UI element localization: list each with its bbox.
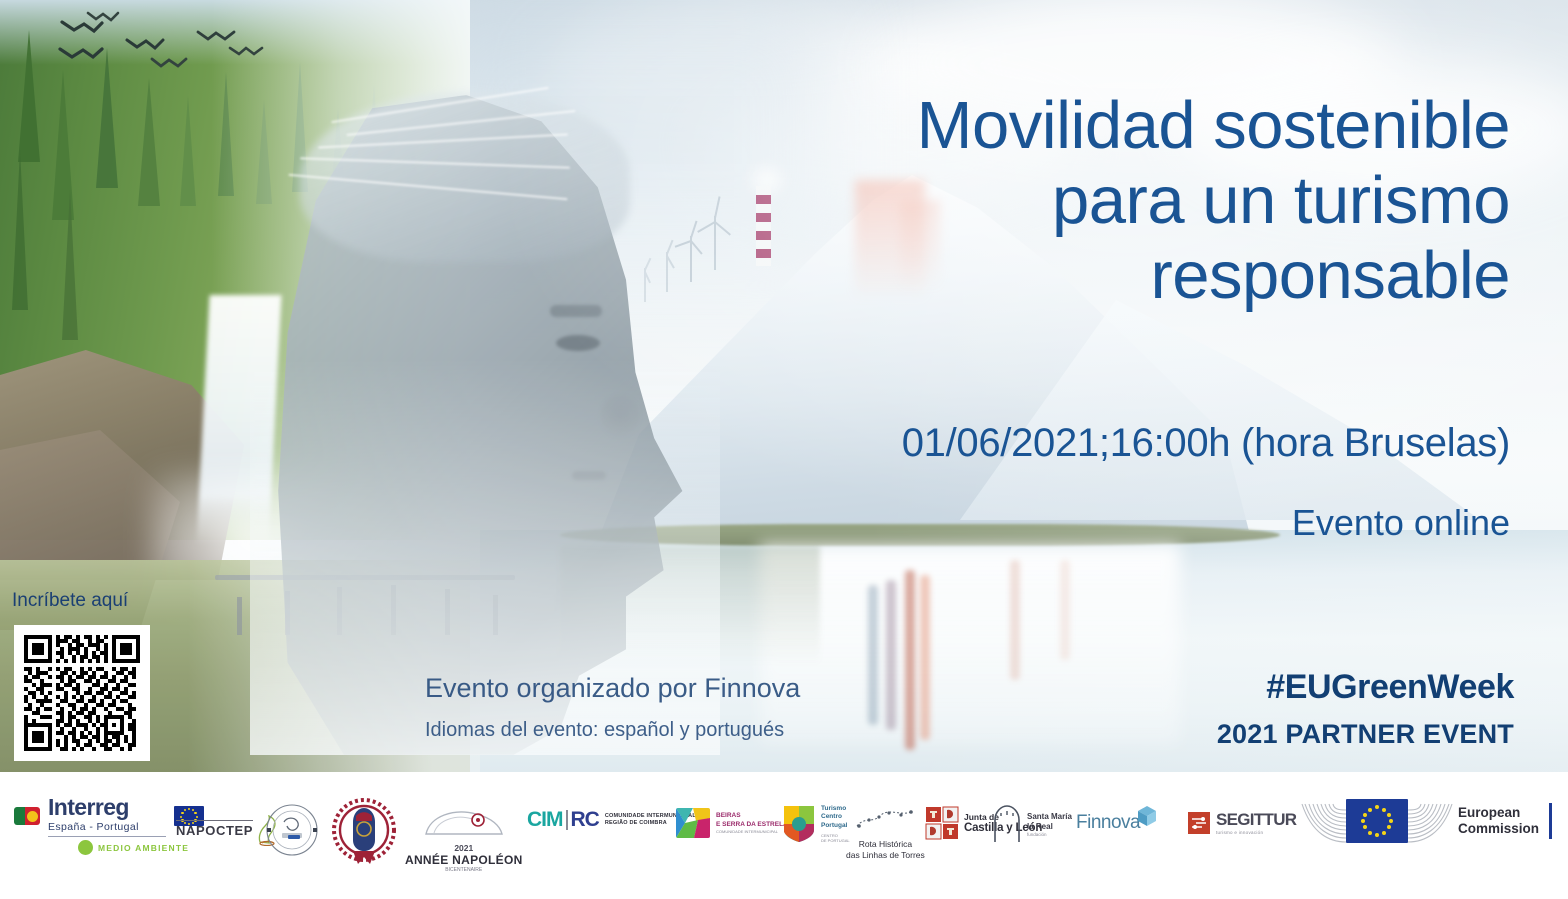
event-languages: Idiomas del evento: español y portugués bbox=[425, 719, 784, 742]
logo-turismo-centro-portugal: Turismo Centro Portugal CENTRO DE PORTUG… bbox=[782, 804, 850, 844]
logo-beiras-word: BEIRAS E SERRA DA ESTRELA bbox=[716, 812, 788, 828]
qr-label: Incríbete aquí bbox=[12, 590, 128, 612]
logo-european-commission: European Commission bbox=[1300, 798, 1552, 844]
bird-icon bbox=[58, 44, 104, 62]
rota-linhas-icon bbox=[853, 808, 917, 834]
logo-annee-word: ANNÉE NAPOLÉON bbox=[405, 853, 523, 867]
ec-fan-left-icon bbox=[1300, 798, 1348, 844]
logo-smr-sub: fundación bbox=[1027, 832, 1072, 837]
logo-finnova-word: Finnova bbox=[1076, 812, 1140, 834]
logo-beiras-serra-estrela: BEIRAS E SERRA DA ESTRELA COMUNIDADE INT… bbox=[676, 808, 788, 838]
logo-rota-word: Rota Histórica das Linhas de Torres bbox=[846, 839, 925, 861]
tree-shape bbox=[18, 30, 40, 162]
logo-interreg-sub: España - Portugal bbox=[48, 821, 166, 833]
event-organizer: Evento organizado por Finnova bbox=[425, 673, 800, 704]
certification-seal-icon bbox=[264, 802, 320, 858]
logo-beiras-sub: COMUNIDADE INTERMUNICIPAL bbox=[716, 829, 788, 834]
tree-shape bbox=[218, 72, 234, 196]
tree-shape bbox=[62, 190, 78, 340]
ec-divider bbox=[1549, 803, 1552, 839]
logo-segittur-sub: turismo e innovación bbox=[1216, 830, 1296, 835]
finnova-cube-icon bbox=[1135, 804, 1159, 828]
event-datetime: 01/06/2021;16:00h (hora Bruselas) bbox=[902, 421, 1510, 466]
logo-interreg-word: Interreg bbox=[48, 794, 166, 821]
napoleon-seal-icon bbox=[330, 794, 398, 866]
tree-shape bbox=[52, 70, 74, 220]
tree-shape bbox=[12, 150, 28, 310]
title-line-1: Movilidad sostenible bbox=[610, 88, 1510, 163]
ec-fan-right-icon bbox=[1406, 798, 1454, 844]
partner-logo-bar: Interreg España - Portugal MEDIO AMBIENT… bbox=[0, 772, 1568, 899]
logo-segittur-word: SEGITTUR bbox=[1216, 810, 1296, 830]
water-reflection-streak bbox=[905, 570, 915, 750]
water-reflection-white bbox=[760, 545, 1180, 745]
logo-rota-historica: Rota Histórica das Linhas de Torres bbox=[846, 808, 925, 861]
water-reflection-streak bbox=[886, 580, 896, 730]
logo-annee-sub: BICENTENAIRE bbox=[405, 867, 523, 873]
page-title: Movilidad sostenible para un turismo res… bbox=[610, 88, 1510, 313]
event-modality: Evento online bbox=[1292, 502, 1510, 544]
partner-event-label: 2021 PARTNER EVENT bbox=[1217, 719, 1514, 750]
castilla-leon-crest-icon bbox=[925, 806, 959, 840]
eu-flag-icon bbox=[1346, 799, 1408, 843]
water-reflection-streak bbox=[920, 575, 930, 740]
bird-icon bbox=[125, 36, 165, 53]
logo-finnova: Finnova bbox=[1076, 812, 1159, 834]
qr-code-registration[interactable] bbox=[14, 625, 150, 761]
logo-annee-napoleon: 2021 ANNÉE NAPOLÉON BICENTENAIRE bbox=[405, 808, 523, 873]
bird-icon bbox=[150, 55, 188, 71]
bird-icon bbox=[228, 44, 264, 59]
logo-napoctep-word: NAPOCTEP bbox=[176, 820, 253, 838]
tree-shape bbox=[96, 48, 118, 188]
napoleon-hat-icon bbox=[420, 808, 508, 838]
tree-shape bbox=[180, 96, 196, 206]
campaign-hashtag: #EUGreenWeek bbox=[1266, 668, 1514, 707]
bird-icon bbox=[86, 10, 120, 24]
logo-annee-year: 2021 bbox=[405, 843, 523, 853]
title-line-2: para un turismo bbox=[610, 163, 1510, 238]
portugal-flag-icon bbox=[14, 807, 40, 825]
logo-santa-maria-la-real: Santa María la Real fundación bbox=[992, 804, 1072, 844]
water-reflection-streak bbox=[1060, 560, 1070, 660]
logo-cim-word-a: CIM bbox=[527, 808, 563, 832]
turismo-shield-icon bbox=[782, 804, 816, 844]
logo-segittur: SEGITTUR turismo e innovación bbox=[1188, 810, 1296, 835]
bird-icon bbox=[196, 28, 236, 44]
arch-icon bbox=[992, 804, 1022, 844]
logo-certification-seal bbox=[264, 802, 320, 858]
leaf-icon bbox=[78, 840, 93, 855]
title-line-3: responsable bbox=[610, 238, 1510, 313]
logo-ec-word: European Commission bbox=[1458, 805, 1539, 838]
logo-cimrc: CIM RC COMUNIDADE INTERMUNICIPAL REGIÃO … bbox=[527, 808, 696, 832]
logo-medio-ambiente: MEDIO AMBIENTE bbox=[78, 840, 189, 855]
tree-shape bbox=[138, 78, 160, 206]
logo-smr-word: Santa María la Real bbox=[1027, 812, 1072, 832]
segittur-mark-icon bbox=[1188, 812, 1210, 834]
logo-napoleon-seal bbox=[330, 794, 398, 866]
water-reflection-streak bbox=[868, 585, 878, 725]
qr-code-icon[interactable] bbox=[24, 635, 140, 751]
logo-cim-word-b: RC bbox=[571, 808, 599, 832]
event-poster: Movilidad sostenible para un turismo res… bbox=[0, 0, 1568, 899]
water-reflection-streak bbox=[1010, 560, 1020, 680]
beiras-mark-icon bbox=[676, 808, 710, 838]
